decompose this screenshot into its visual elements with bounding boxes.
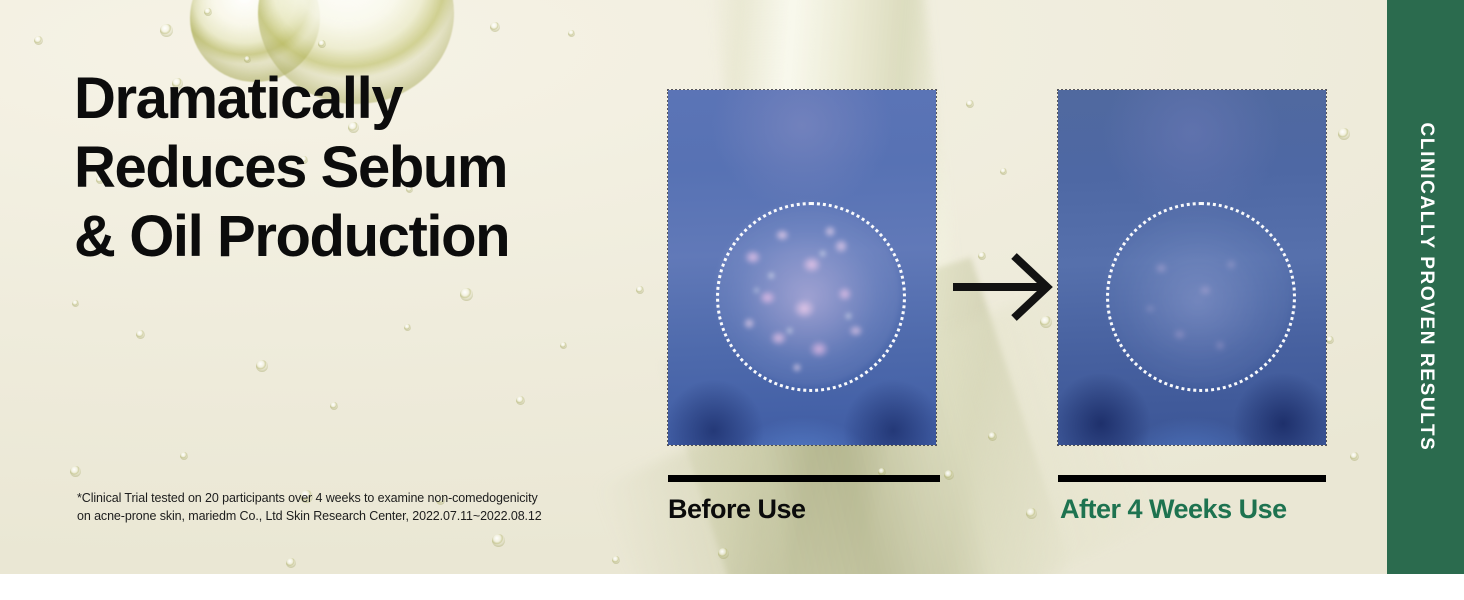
bubble-icon [1338, 128, 1350, 140]
bubble-icon [204, 8, 212, 16]
before-caption-label: Before Use [668, 496, 806, 523]
bubble-icon [1000, 168, 1007, 175]
bubble-icon [180, 452, 188, 460]
clinically-proven-side-panel: CLINICALLY PROVEN RESULTS [1387, 0, 1464, 574]
side-panel-label: CLINICALLY PROVEN RESULTS [1415, 123, 1437, 452]
bubble-icon [718, 548, 729, 559]
bubble-icon [492, 534, 505, 547]
bubble-icon [944, 470, 954, 480]
bubble-icon [70, 466, 81, 477]
page-title: Dramatically Reduces Sebum & Oil Product… [74, 64, 694, 271]
after-caption-label: After 4 Weeks Use [1060, 496, 1287, 523]
bubble-icon [966, 100, 974, 108]
bubble-icon [286, 558, 296, 568]
bubble-icon [330, 402, 338, 410]
clinical-trial-disclaimer: *Clinical Trial tested on 20 participant… [77, 490, 637, 526]
bubble-icon [160, 24, 173, 37]
bubble-icon [34, 36, 43, 45]
bubble-icon [1026, 508, 1037, 519]
bubble-icon [612, 556, 620, 564]
bubble-icon [1350, 452, 1359, 461]
clinical-results-banner: Dramatically Reduces Sebum & Oil Product… [0, 0, 1464, 600]
bottom-white-strip [0, 574, 1464, 600]
bubble-icon [1326, 336, 1334, 344]
after-figure [1058, 90, 1326, 445]
bubble-icon [318, 40, 326, 48]
bubble-icon [136, 330, 145, 339]
bubble-icon [244, 56, 251, 63]
bubble-icon [256, 360, 268, 372]
before-caption-rule [668, 475, 940, 482]
after-caption-rule [1058, 475, 1326, 482]
banner-artboard: Dramatically Reduces Sebum & Oil Product… [0, 0, 1464, 574]
bubble-icon [516, 396, 525, 405]
highlight-circle-marker [1106, 202, 1296, 392]
bubble-icon [460, 288, 473, 301]
bubble-icon [568, 30, 575, 37]
bubble-icon [404, 324, 411, 331]
before-photo [668, 90, 936, 445]
bubble-icon [72, 300, 79, 307]
bubble-icon [636, 286, 644, 294]
highlight-circle-marker [716, 202, 906, 392]
bubble-icon [988, 432, 997, 441]
bubble-icon [490, 22, 500, 32]
bubble-icon [560, 342, 567, 349]
after-photo [1058, 90, 1326, 445]
right-arrow-icon [950, 250, 1054, 324]
before-figure [668, 90, 936, 445]
